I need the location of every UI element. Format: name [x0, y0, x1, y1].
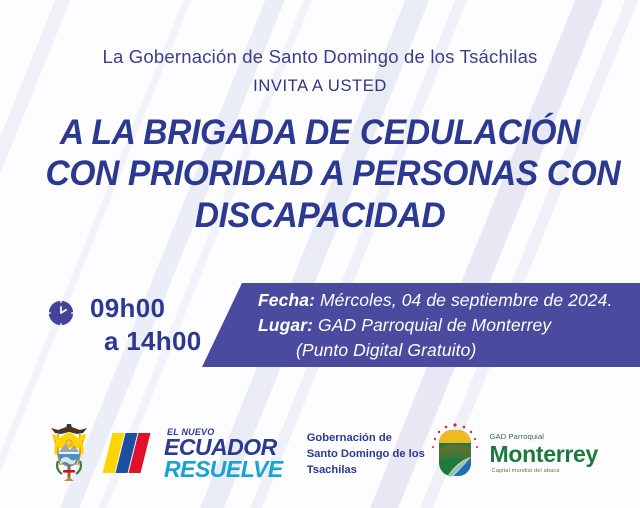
monterrey-gad-label: GAD Parroquial [490, 433, 599, 441]
footer-left-group: EL NUEVO ECUADOR RESUELVE Gobernación de… [46, 421, 427, 488]
details-date-row: Fecha: Mércoles, 04 de septiembre de 202… [258, 288, 640, 313]
date-label: Fecha: [258, 290, 315, 310]
headline-line-2: CON PRIORIDAD A PERSONAS CON [45, 153, 594, 194]
schedule-end: a 14h00 [90, 325, 202, 358]
government-label: Gobernación de Santo Domingo de los Tsac… [307, 430, 427, 479]
headline-line-1: A LA BRIGADA DE CEDULACIÓN [45, 112, 594, 153]
monterrey-tagline: Capital mundial del abacá [492, 469, 599, 475]
monterrey-name: Monterrey [490, 443, 599, 466]
page-title: A LA BRIGADA DE CEDULACIÓN CON PRIORIDAD… [45, 112, 594, 236]
headline-line-3: DISCAPACIDAD [45, 195, 594, 236]
schedule-text: 09h00 a 14h00 [90, 292, 202, 358]
schedule-start: 09h00 [90, 292, 202, 325]
ecuador-resuelve-logo: EL NUEVO ECUADOR RESUELVE [102, 427, 283, 482]
clock-icon [46, 298, 76, 333]
ecuador-coat-of-arms-icon [46, 421, 92, 488]
poster-canvas: La Gobernación de Santo Domingo de los T… [0, 0, 640, 508]
invitation-line: INVITA A USTED [0, 77, 640, 96]
ecuador-logo-sub-word: RESUELVE [164, 459, 283, 480]
header-block: La Gobernación de Santo Domingo de los T… [0, 46, 640, 96]
footer-block: EL NUEVO ECUADOR RESUELVE Gobernación de… [0, 408, 640, 500]
place-note: (Punto Digital Gratuito) [258, 338, 640, 363]
monterrey-emblem-icon [427, 421, 483, 488]
place-label: Lugar: [258, 315, 313, 335]
monterrey-logo: GAD Parroquial Monterrey Capital mundial… [427, 421, 599, 488]
government-label-line-1: Gobernación de [307, 430, 427, 446]
government-label-line-2: Santo Domingo de los Tsachilas [307, 446, 427, 478]
organization-line: La Gobernación de Santo Domingo de los T… [0, 46, 640, 68]
schedule-block: 09h00 a 14h00 [46, 292, 202, 358]
details-place-row: Lugar: GAD Parroquial de Monterrey [258, 313, 640, 338]
place-value: GAD Parroquial de Monterrey [318, 315, 551, 335]
date-value: Mércoles, 04 de septiembre de 2024. [320, 290, 612, 310]
details-text: Fecha: Mércoles, 04 de septiembre de 202… [258, 288, 640, 363]
ecuador-flag-icon [102, 427, 158, 482]
